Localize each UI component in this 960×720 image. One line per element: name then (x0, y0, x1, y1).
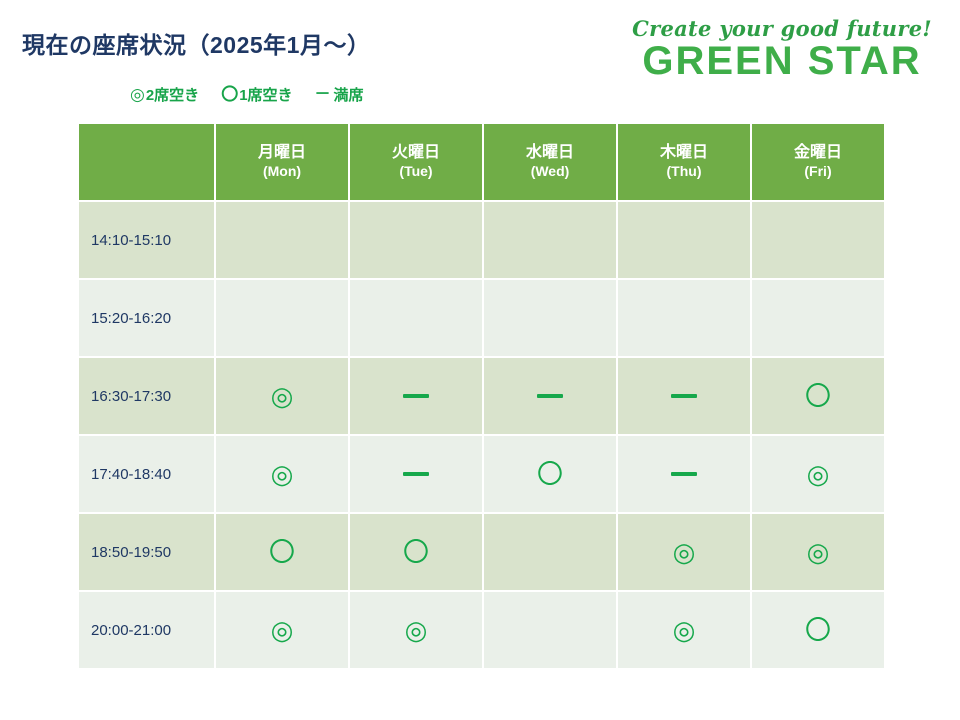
availability-cell[interactable] (350, 436, 482, 512)
column-header-mon: 月曜日(Mon) (216, 124, 348, 200)
legend-label-double: 2席空き (146, 84, 199, 105)
table-row: 17:40-18:40◎〇◎ (79, 436, 884, 512)
availability-cell[interactable] (752, 202, 884, 278)
column-header-thu: 木曜日(Thu) (618, 124, 750, 200)
legend-item-single: 〇 1席空き (221, 84, 292, 105)
logo-tagline: Create your good future! (632, 18, 932, 39)
table-body: 14:10-15:1015:20-16:2016:30-17:30◎〇17:40… (79, 202, 884, 668)
availability-cell[interactable] (752, 280, 884, 356)
page-title: 現在の座席状況（2025年1月〜） (22, 26, 370, 60)
time-slot-label: 16:30-17:30 (79, 358, 214, 434)
availability-cell[interactable]: 〇 (484, 436, 616, 512)
availability-cell[interactable]: ◎ (216, 592, 348, 668)
single-circle-icon: 〇 (269, 539, 295, 565)
double-circle-icon: ◎ (271, 617, 294, 643)
availability-cell[interactable]: ◎ (618, 514, 750, 590)
column-header-en: (Thu) (618, 163, 750, 181)
time-slot-label: 17:40-18:40 (79, 436, 214, 512)
availability-cell[interactable]: ◎ (216, 358, 348, 434)
legend-label-full: 満席 (334, 84, 364, 105)
availability-cell[interactable]: ◎ (752, 436, 884, 512)
column-header-en: (Mon) (216, 163, 348, 181)
availability-cell[interactable] (618, 436, 750, 512)
column-header-tue: 火曜日(Tue) (350, 124, 482, 200)
time-slot-label: 18:50-19:50 (79, 514, 214, 590)
brand-logo: Create your good future! GREEN STAR (632, 18, 932, 81)
single-circle-icon: 〇 (805, 617, 831, 643)
dash-icon: － (315, 87, 331, 103)
table-row: 14:10-15:10 (79, 202, 884, 278)
availability-cell[interactable] (350, 358, 482, 434)
single-circle-icon: 〇 (221, 86, 238, 103)
column-header-ja: 木曜日 (660, 144, 708, 161)
availability-cell[interactable]: 〇 (752, 592, 884, 668)
column-header-ja: 水曜日 (526, 144, 574, 161)
header-corner-cell (79, 124, 214, 200)
availability-cell[interactable] (350, 280, 482, 356)
availability-cell[interactable]: 〇 (752, 358, 884, 434)
double-circle-icon: ◎ (271, 383, 294, 409)
column-header-en: (Fri) (752, 163, 884, 181)
table-row: 15:20-16:20 (79, 280, 884, 356)
table-head: 月曜日(Mon)火曜日(Tue)水曜日(Wed)木曜日(Thu)金曜日(Fri) (79, 124, 884, 200)
legend-item-double: ◎ 2席空き (130, 84, 199, 105)
single-circle-icon: 〇 (403, 539, 429, 565)
single-circle-icon: 〇 (537, 461, 563, 487)
column-header-ja: 月曜日 (258, 144, 306, 161)
dash-icon (671, 394, 697, 398)
double-circle-icon: ◎ (405, 617, 428, 643)
column-header-ja: 火曜日 (392, 144, 440, 161)
column-header-en: (Wed) (484, 163, 616, 181)
column-header-fri: 金曜日(Fri) (752, 124, 884, 200)
double-circle-icon: ◎ (673, 539, 696, 565)
legend-item-full: － 満席 (315, 84, 364, 105)
availability-cell[interactable]: ◎ (618, 592, 750, 668)
availability-cell[interactable] (484, 592, 616, 668)
double-circle-icon: ◎ (807, 539, 830, 565)
availability-cell[interactable]: 〇 (350, 514, 482, 590)
availability-cell[interactable]: ◎ (216, 436, 348, 512)
header-area: 現在の座席状況（2025年1月〜） ◎ 2席空き 〇 1席空き － 満席 Cre… (0, 0, 960, 122)
table-row: 20:00-21:00◎◎◎〇 (79, 592, 884, 668)
single-circle-icon: 〇 (805, 383, 831, 409)
table-row: 18:50-19:50〇〇◎◎ (79, 514, 884, 590)
table-header-row: 月曜日(Mon)火曜日(Tue)水曜日(Wed)木曜日(Thu)金曜日(Fri) (79, 124, 884, 200)
time-slot-label: 15:20-16:20 (79, 280, 214, 356)
column-header-ja: 金曜日 (794, 144, 842, 161)
legend: ◎ 2席空き 〇 1席空き － 満席 (130, 84, 364, 105)
double-circle-icon: ◎ (807, 461, 830, 487)
availability-cell[interactable] (216, 202, 348, 278)
logo-name: GREEN STAR (632, 41, 932, 81)
time-slot-label: 14:10-15:10 (79, 202, 214, 278)
double-circle-icon: ◎ (673, 617, 696, 643)
double-circle-icon: ◎ (130, 86, 145, 103)
time-slot-label: 20:00-21:00 (79, 592, 214, 668)
availability-cell[interactable] (216, 280, 348, 356)
double-circle-icon: ◎ (271, 461, 294, 487)
availability-cell[interactable] (484, 280, 616, 356)
column-header-en: (Tue) (350, 163, 482, 181)
availability-cell[interactable]: ◎ (350, 592, 482, 668)
dash-icon (403, 472, 429, 476)
legend-label-single: 1席空き (239, 84, 292, 105)
availability-cell[interactable] (484, 358, 616, 434)
column-header-wed: 水曜日(Wed) (484, 124, 616, 200)
dash-icon (403, 394, 429, 398)
dash-icon (671, 472, 697, 476)
availability-cell[interactable] (618, 280, 750, 356)
table-row: 16:30-17:30◎〇 (79, 358, 884, 434)
availability-cell[interactable] (618, 358, 750, 434)
availability-cell[interactable] (484, 514, 616, 590)
availability-cell[interactable]: ◎ (752, 514, 884, 590)
availability-cell[interactable]: 〇 (216, 514, 348, 590)
dash-icon (537, 394, 563, 398)
availability-cell[interactable] (618, 202, 750, 278)
availability-cell[interactable] (350, 202, 482, 278)
availability-cell[interactable] (484, 202, 616, 278)
seat-availability-table: 月曜日(Mon)火曜日(Tue)水曜日(Wed)木曜日(Thu)金曜日(Fri)… (77, 122, 886, 670)
